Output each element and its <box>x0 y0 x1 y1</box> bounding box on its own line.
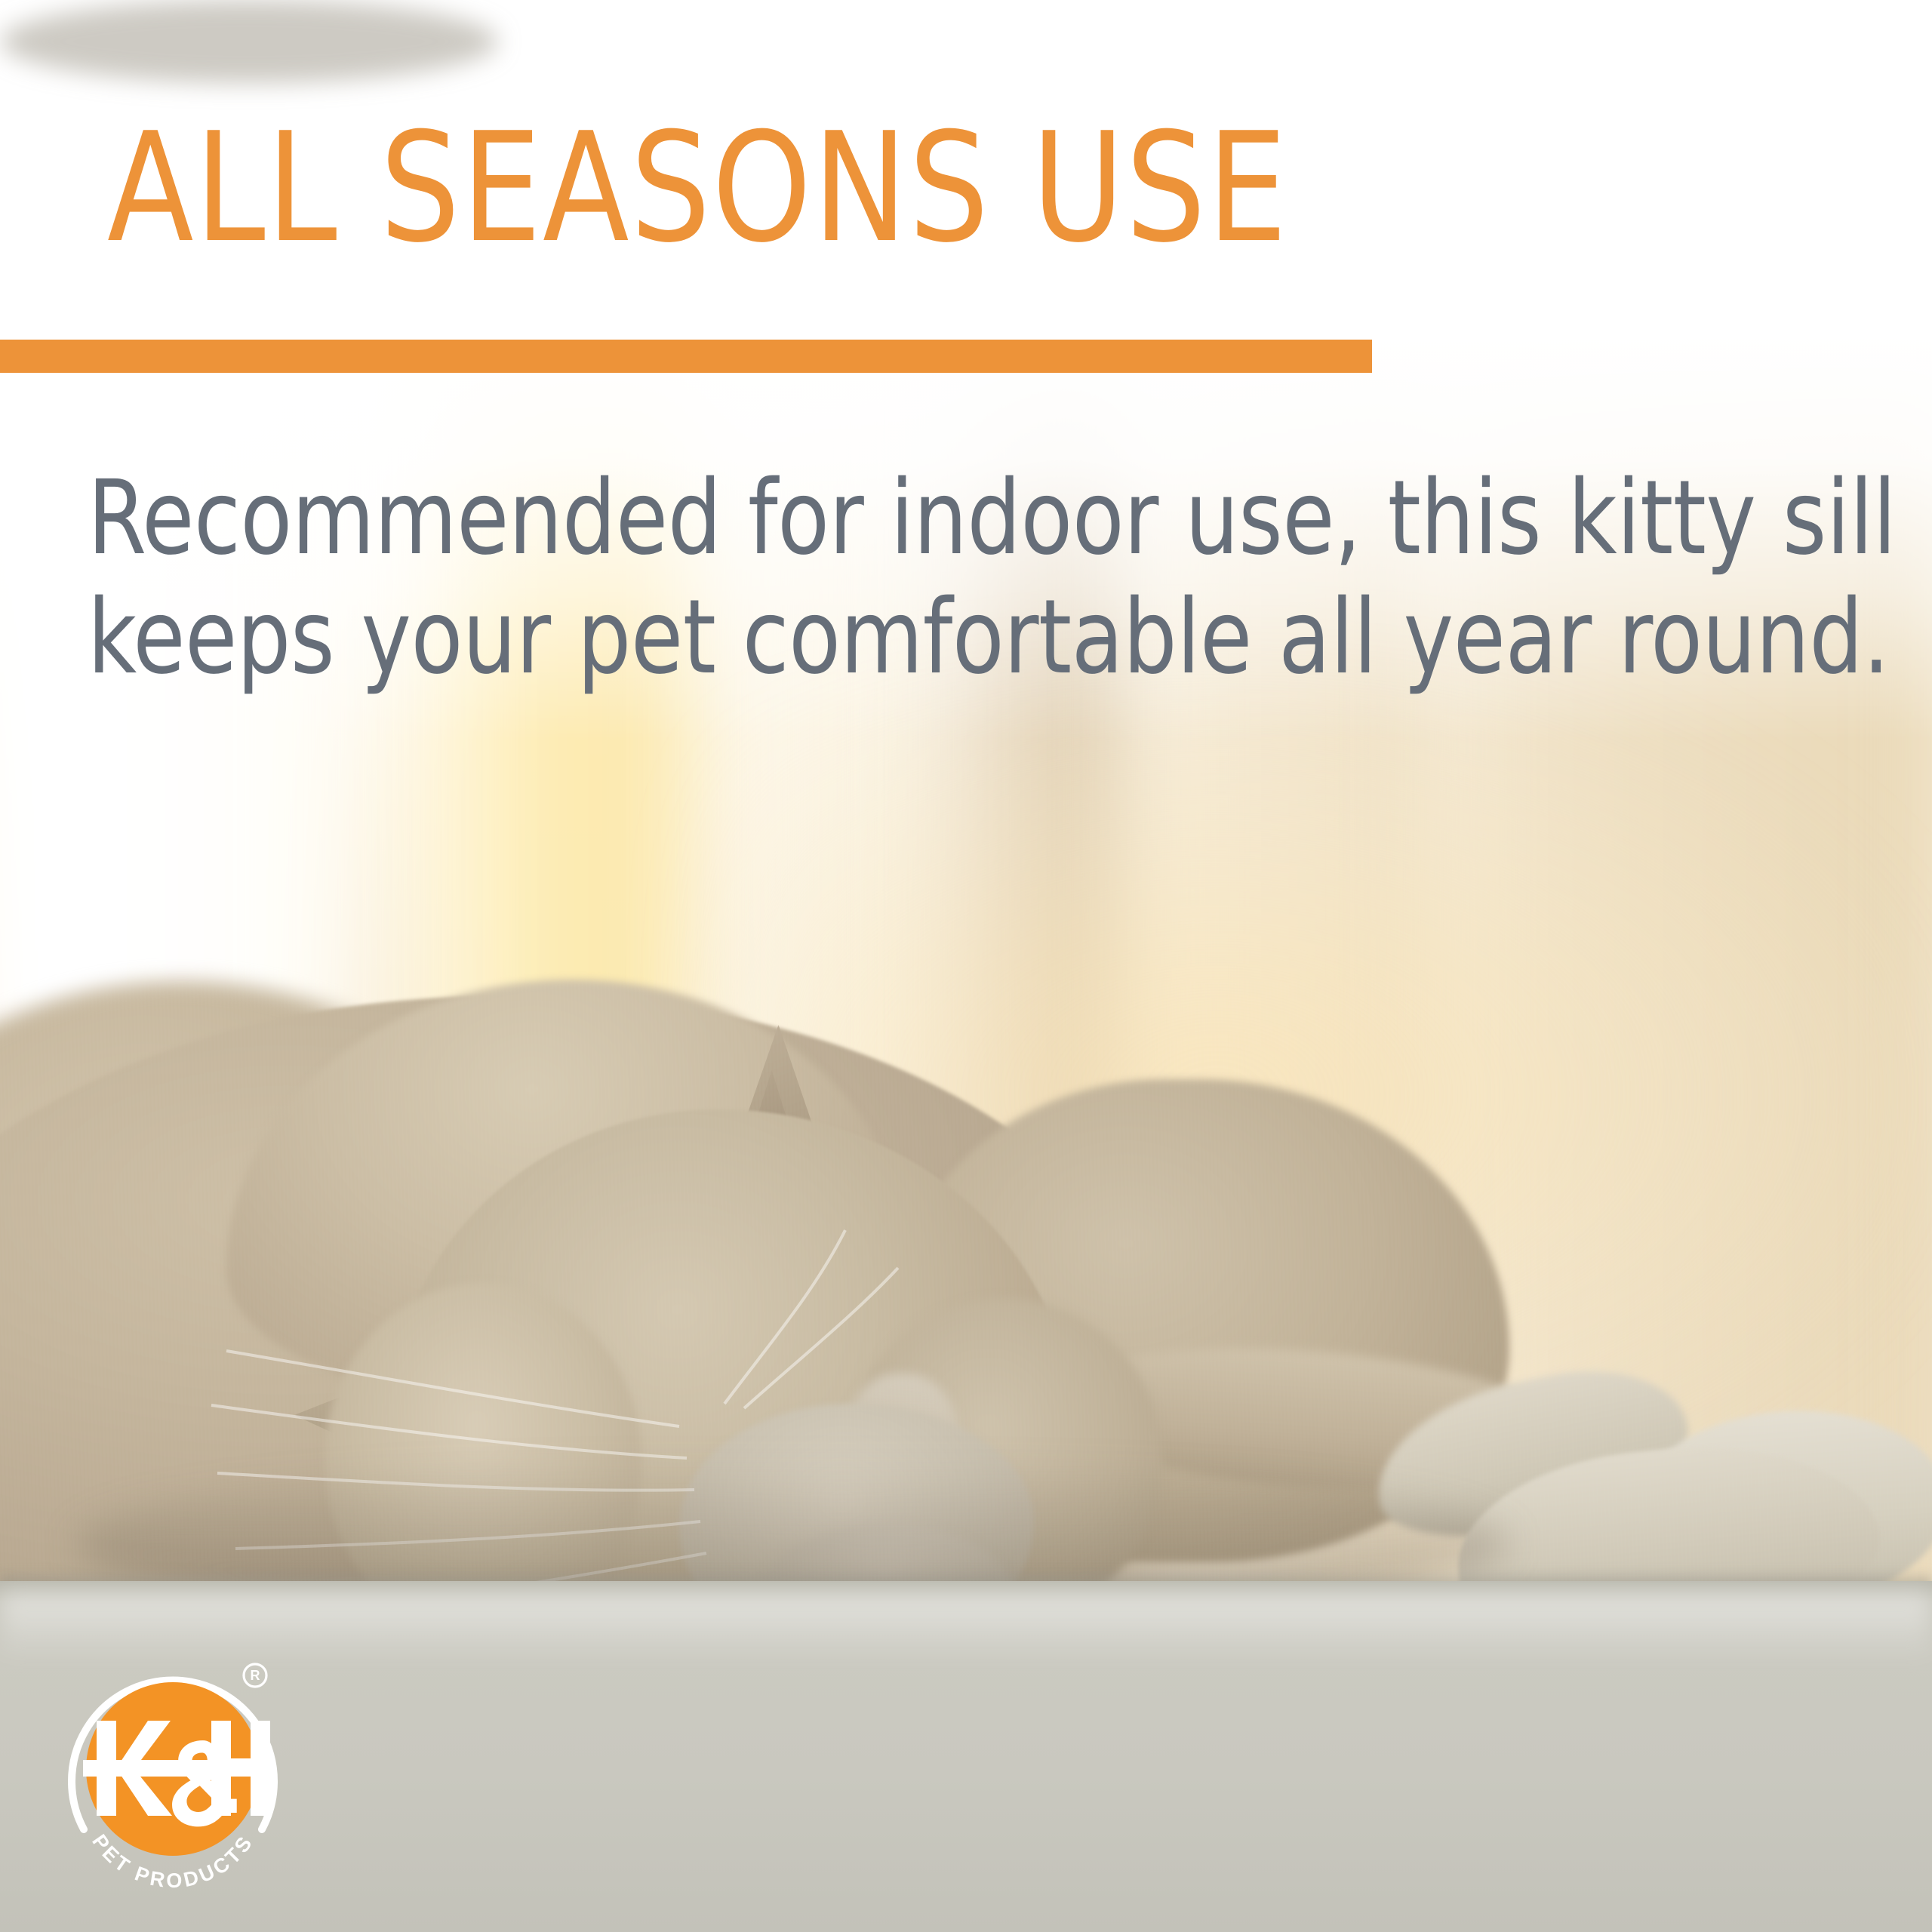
description-line-1: Recommended for indoor use, this kitty s… <box>88 459 1698 578</box>
description-text: Recommended for indoor use, this kitty s… <box>88 459 1698 697</box>
registered-trademark-icon: R <box>244 1664 266 1687</box>
title-divider <box>0 340 1372 373</box>
product-feature-card: ALL SEASONS USE Recommended for indoor u… <box>0 0 1932 1932</box>
brand-logo: R PET PRODUCTS <box>50 1654 296 1903</box>
sill-highlight <box>0 1592 1932 1660</box>
paw-shadow <box>0 0 498 83</box>
description-line-2: keeps your pet comfortable all year roun… <box>88 578 1698 697</box>
cat-photo <box>0 0 1932 1932</box>
page-title: ALL SEASONS USE <box>107 113 1288 264</box>
svg-text:R: R <box>251 1668 260 1683</box>
